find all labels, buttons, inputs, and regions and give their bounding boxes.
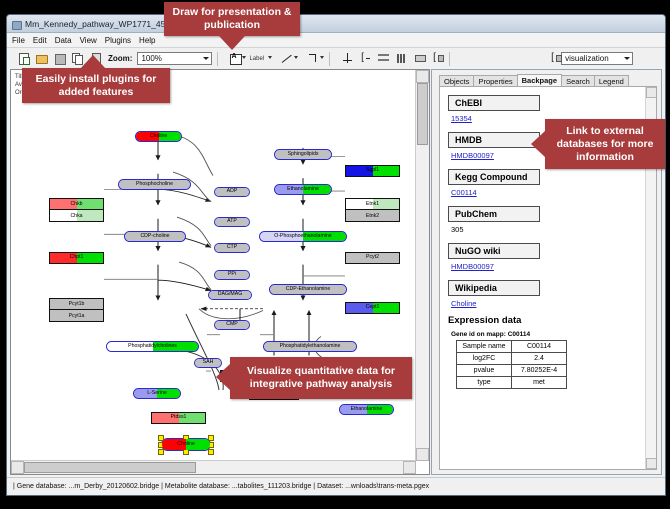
callout-plugins-arrow-icon	[80, 55, 106, 69]
toolbar-separator-3	[449, 52, 450, 66]
zoom-label: Zoom:	[108, 54, 132, 63]
line-icon[interactable]	[275, 51, 290, 66]
toolbar-separator-2	[329, 52, 330, 66]
annotation-icon[interactable]	[223, 51, 238, 66]
align-icon[interactable]	[407, 51, 422, 66]
callout-plugins-text: Easily install plugins for added feature…	[29, 73, 163, 99]
callout-databases-text: Link to external databases for more info…	[552, 125, 658, 164]
callout-draw-text: Draw for presentation & publication	[171, 6, 293, 32]
label-dropdown-label[interactable]: Label	[249, 56, 264, 62]
gene-stack-chkb-chka[interactable]: ChkbChka	[49, 198, 104, 222]
expression-table: Sample name C00114 log2FC 2.4 pvalue 7.8…	[456, 340, 567, 389]
metabolite-node-cmp[interactable]: CMP	[214, 320, 250, 330]
metabolite-label: PPi	[228, 272, 236, 277]
gene-node-chpt1[interactable]: Chpt1	[49, 252, 104, 264]
status-bar-text: | Gene database: ...m_Derby_20120602.bri…	[13, 483, 429, 490]
table-row: Sample name C00114	[457, 341, 567, 353]
gene-stack-row[interactable]: Chkb	[50, 199, 103, 210]
pubchem-header: PubChem	[448, 206, 540, 222]
expression-row-name: Sample name	[457, 341, 512, 353]
gene-node-ptdss1[interactable]: Ptdss1	[151, 412, 206, 424]
zoom-combobox[interactable]: 100%	[137, 52, 212, 65]
metabolite-label: DAG/MAG	[218, 292, 243, 297]
gene-stack-row[interactable]: Etnk2	[346, 210, 399, 221]
menu-item-help[interactable]: Help	[139, 36, 155, 45]
metabolite-node-phosphocholine[interactable]: Phosphocholine	[118, 179, 191, 190]
metabolite-node-adp[interactable]: ADP	[214, 187, 250, 197]
wikipedia-link[interactable]: Choline	[451, 299, 644, 308]
visualization-value: visualization	[565, 54, 609, 63]
gene-stack-row[interactable]: Chka	[50, 210, 103, 221]
metabolite-node-ppi[interactable]: PPi	[214, 270, 250, 280]
expression-row-value: 2.4	[512, 353, 567, 365]
metabolite-label: SAH	[203, 360, 214, 365]
expression-row-value: 7.80252E-4	[512, 365, 567, 377]
gene-node-cept1[interactable]: Cept1	[345, 302, 400, 314]
expression-row-name: log2FC	[457, 353, 512, 365]
visualization-panel-icon[interactable]	[543, 51, 558, 66]
metabolite-label: Ethanolamine	[351, 407, 383, 412]
table-row: log2FC 2.4	[457, 353, 567, 365]
tab-backpage[interactable]: Backpage	[517, 74, 562, 88]
metabolite-label: O-Phosphoethanolamine	[274, 234, 331, 239]
gene-stack-row[interactable]: Etnk1	[346, 199, 399, 210]
gene-stack-row[interactable]: Pcyt1b	[50, 299, 103, 310]
metabolite-label: CMP	[226, 322, 238, 327]
metabolite-label: Phosphatidylcholines	[128, 344, 177, 349]
toolbar-separator	[217, 52, 218, 66]
label-chevron-icon[interactable]	[267, 56, 272, 61]
callout-visualize-text: Visualize quantitative data for integrat…	[237, 365, 405, 391]
metabolite-node-ctp[interactable]: CTP	[214, 243, 250, 253]
callout-visualize-arrow-icon	[216, 364, 230, 390]
menu-item-plugins[interactable]: Plugins	[105, 36, 131, 45]
callout-draw: Draw for presentation & publication	[164, 2, 300, 36]
anchor-icon[interactable]	[335, 51, 350, 66]
menu-item-data[interactable]: Data	[55, 36, 72, 45]
metabolite-node-sphingolipids[interactable]: Sphingolipids	[274, 149, 332, 160]
callout-databases: Link to external databases for more info…	[545, 119, 665, 169]
pubchem-value: 305	[451, 225, 644, 234]
gene-label: Sgpl1	[366, 168, 379, 173]
gene-stack-pcyt1b-pcyt1a[interactable]: Pcyt1bPcyt1a	[49, 298, 104, 322]
metabolite-node-phosphatidylethanolamine[interactable]: Phosphatidylethanolamine	[263, 341, 357, 352]
chebi-header: ChEBI	[448, 95, 540, 111]
metabolite-node-dagmag[interactable]: DAG/MAG	[208, 290, 252, 300]
open-icon[interactable]	[29, 51, 44, 66]
menu-item-edit[interactable]: Edit	[33, 36, 47, 45]
callout-plugins: Easily install plugins for added feature…	[22, 68, 170, 103]
metabolite-label: CDP-Ethanolamine	[286, 287, 330, 292]
metabolite-label: Phosphocholine	[136, 182, 173, 187]
gene-label: Pcyt1a	[69, 313, 85, 319]
chevron-down-icon	[200, 53, 211, 64]
expression-row-name: pvalue	[457, 365, 512, 377]
gene-id-note: Gene id on mapp: C00114	[451, 331, 644, 338]
metabolite-label: Sphingolipids	[288, 152, 319, 157]
nugo-wiki-header: NuGO wiki	[448, 243, 540, 259]
menu-item-file[interactable]: File	[12, 36, 25, 45]
hmdb-header: HMDB	[448, 132, 540, 148]
metabolite-node-phosphatidylcholines[interactable]: Phosphatidylcholines	[106, 341, 199, 352]
expression-row-name: type	[457, 377, 512, 389]
table-row: pvalue 7.80252E-4	[457, 365, 567, 377]
metabolite-node-l-serine-left[interactable]: L-Serine	[133, 388, 181, 399]
columns-icon[interactable]	[389, 51, 404, 66]
metabolite-label: ADP	[227, 189, 238, 194]
pathway-canvas[interactable]: Title: Availa Organ	[11, 70, 416, 461]
kegg-compound-link[interactable]: C00114	[451, 188, 644, 197]
chevron-down-icon-2	[621, 53, 632, 64]
metabolite-label: L-Serine	[147, 391, 167, 396]
metabolite-label: Choline	[150, 134, 168, 139]
zoom-value: 100%	[141, 54, 161, 63]
gene-label: Etnk2	[366, 213, 379, 219]
pathway-node-layer: CholinePhosphocholineCDP-cholinePhosphat…	[11, 70, 416, 461]
gene-node-sgpl1[interactable]: Sgpl1	[345, 165, 400, 177]
nugo-wiki-link[interactable]: HMDB00097	[451, 262, 644, 271]
order-icon[interactable]	[425, 51, 440, 66]
gene-label: Chpt1	[70, 255, 84, 260]
copy-icon[interactable]	[65, 51, 80, 66]
expression-row-value: met	[512, 377, 567, 389]
menu-item-view[interactable]: View	[80, 36, 97, 45]
save-icon[interactable]	[47, 51, 62, 66]
metabolite-node-o-phosphoethanolamine[interactable]: O-Phosphoethanolamine	[259, 231, 347, 242]
gene-stack-row[interactable]: Pcyt1a	[50, 310, 103, 321]
screenshot-root: Mm_Kennedy_pathway_WP1771_45176.gpml Fil…	[0, 0, 670, 509]
metabolite-node-choline-selected[interactable]: Choline	[161, 438, 211, 451]
stack-icon[interactable]	[371, 51, 386, 66]
bracket-icon[interactable]	[353, 51, 368, 66]
kegg-compound-header: Kegg Compound	[448, 169, 540, 185]
metabolite-label: Choline	[177, 442, 195, 447]
callout-databases-arrow-icon	[531, 131, 545, 157]
metabolite-node-cdp-choline[interactable]: CDP-choline	[124, 231, 186, 242]
metabolite-label: Ethanolamine	[287, 187, 319, 192]
gene-label: Pcyt1b	[69, 301, 85, 307]
gene-label: Pcyt2	[366, 255, 379, 260]
callout-draw-arrow-icon	[219, 36, 245, 50]
visualization-combobox[interactable]: visualization	[561, 52, 633, 65]
gene-node-pcyt2[interactable]: Pcyt2	[345, 252, 400, 264]
metabolite-label: CDP-choline	[140, 234, 169, 239]
app-icon	[11, 19, 21, 29]
status-bar: | Gene database: ...m_Derby_20120602.bri…	[7, 477, 665, 495]
expression-row-value: C00114	[512, 341, 567, 353]
canvas-vertical-scrollbar[interactable]	[415, 70, 429, 461]
canvas-horizontal-scrollbar[interactable]	[11, 460, 416, 474]
metabolite-label: Phosphatidylethanolamine	[280, 344, 341, 349]
metabolite-label: ATP	[227, 219, 237, 224]
expression-data-title: Expression data	[448, 315, 644, 326]
wikipedia-header: Wikipedia	[448, 280, 540, 296]
new-icon[interactable]	[11, 51, 26, 66]
metabolite-node-choline[interactable]: Choline	[135, 131, 182, 142]
gene-label: Chka	[70, 213, 82, 219]
pathway-editor-pane[interactable]: Title: Availa Organ	[10, 69, 430, 475]
elbow-line-icon[interactable]	[301, 51, 316, 66]
table-row: type met	[457, 377, 567, 389]
gene-label: Cept1	[366, 305, 380, 310]
metabolite-label: CTP	[227, 245, 237, 250]
metabolite-node-atp[interactable]: ATP	[214, 217, 250, 227]
callout-visualize: Visualize quantitative data for integrat…	[230, 357, 412, 399]
gene-stack-etnk1-etnk2[interactable]: Etnk1Etnk2	[345, 198, 400, 222]
metabolite-node-cdp-ethanolamine[interactable]: CDP-Ethanolamine	[269, 284, 347, 295]
gene-label: Ptdss1	[171, 415, 187, 420]
gene-label: Chkb	[70, 201, 82, 207]
metabolite-node-ethanolamine-top[interactable]: Ethanolamine	[274, 184, 332, 195]
menu-bar: File Edit Data View Plugins Help	[7, 33, 665, 48]
title-bar: Mm_Kennedy_pathway_WP1771_45176.gpml	[7, 15, 665, 33]
gene-label: Etnk1	[366, 201, 379, 207]
metabolite-node-ethanolamine-bot[interactable]: Ethanolamine	[339, 404, 394, 415]
